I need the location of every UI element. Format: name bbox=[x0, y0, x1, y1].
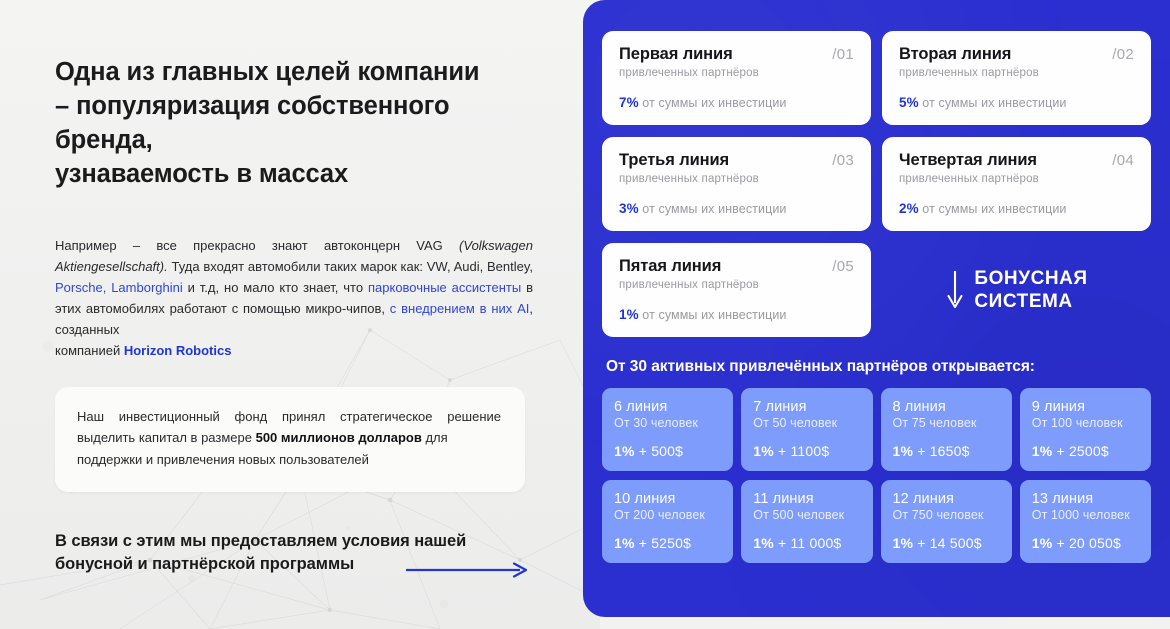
bonus-cell-requirement: От 30 человек bbox=[614, 416, 721, 430]
bonus-cell-percent: 1% bbox=[614, 443, 635, 459]
line-card-note: от суммы их инвестиции bbox=[919, 96, 1067, 110]
bonus-cell-amount: + 2500$ bbox=[1052, 443, 1109, 459]
line-card-number: /04 bbox=[1112, 152, 1134, 169]
referral-lines-grid: Первая линия /01 привлеченных партнёров … bbox=[602, 31, 1151, 337]
bonus-cell-amount: + 20 050$ bbox=[1052, 535, 1121, 551]
bonus-cell[interactable]: 6 линия От 30 человек 1% + 500$ bbox=[602, 388, 733, 471]
line-card-footer: 3% от суммы их инвестиции bbox=[619, 201, 854, 216]
line-card-footer: 1% от суммы их инвестиции bbox=[619, 307, 854, 322]
intro-seg-3: Туда входят автомобили таких марок как: … bbox=[168, 259, 533, 274]
bonus-system-callout: БОНУСНАЯ СИСТЕМА bbox=[882, 243, 1151, 337]
highlight-amount: 500 миллионов долларов bbox=[256, 430, 422, 445]
bonus-cell[interactable]: 9 линия От 100 человек 1% + 2500$ bbox=[1020, 388, 1151, 471]
bonus-cell-reward: 1% + 1100$ bbox=[753, 443, 860, 459]
intro-seg-5: и т.д, но мало кто знает, что bbox=[183, 280, 368, 295]
bonus-cell[interactable]: 8 линия От 75 человек 1% + 1650$ bbox=[881, 388, 1012, 471]
investment-highlight-text: Наш инвестиционный фонд принял стратегич… bbox=[77, 406, 501, 471]
line-card-note: от суммы их инвестиции bbox=[639, 202, 787, 216]
long-right-arrow-icon bbox=[406, 561, 532, 579]
line-card-percent: 2% bbox=[899, 201, 919, 216]
line-card-head: Вторая линия /02 bbox=[899, 45, 1134, 64]
line-card-percent: 5% bbox=[899, 95, 919, 110]
bonus-cell-percent: 1% bbox=[893, 535, 914, 551]
bonus-cell-requirement: От 750 человек bbox=[893, 508, 1000, 522]
line-card[interactable]: Вторая линия /02 привлеченных партнёров … bbox=[882, 31, 1151, 125]
bonus-cell-line: 6 линия bbox=[614, 399, 721, 415]
bonus-cell[interactable]: 12 линия От 750 человек 1% + 14 500$ bbox=[881, 480, 1012, 563]
investment-highlight-card: Наш инвестиционный фонд принял стратегич… bbox=[55, 387, 525, 492]
bonus-cell-amount: + 500$ bbox=[635, 443, 684, 459]
bonus-cell-amount: + 5250$ bbox=[635, 535, 692, 551]
line-card-title: Третья линия bbox=[619, 151, 729, 170]
intro-seg-1: Например – все прекрасно знают автоконце… bbox=[55, 238, 459, 253]
line-card-head: Пятая линия /05 bbox=[619, 257, 854, 276]
bonus-cell-line: 9 линия bbox=[1032, 399, 1139, 415]
bonus-cell-line: 12 линия bbox=[893, 491, 1000, 507]
line-card[interactable]: Первая линия /01 привлеченных партнёров … bbox=[602, 31, 871, 125]
bonus-cell-reward: 1% + 2500$ bbox=[1032, 443, 1139, 459]
partner-program-panel: Первая линия /01 привлеченных партнёров … bbox=[583, 0, 1170, 617]
line-card-number: /03 bbox=[832, 152, 854, 169]
bonus-cell-percent: 1% bbox=[893, 443, 914, 459]
down-arrow-icon bbox=[945, 269, 965, 311]
intro-seg-brands-blue: Porsche, Lamborghini bbox=[55, 280, 183, 295]
bonus-cell-line: 11 линия bbox=[753, 491, 860, 507]
bonus-levels-grid: 6 линия От 30 человек 1% + 500$ 7 линия … bbox=[602, 388, 1151, 563]
bonus-cell-reward: 1% + 14 500$ bbox=[893, 535, 1000, 551]
bonus-cell[interactable]: 13 линия От 1000 человек 1% + 20 050$ bbox=[1020, 480, 1151, 563]
line-card-footer: 2% от суммы их инвестиции bbox=[899, 201, 1134, 216]
line-card-footer: 7% от суммы их инвестиции bbox=[619, 95, 854, 110]
bonus-cell-amount: + 11 000$ bbox=[774, 535, 842, 551]
highlight-seg-4: поддержки и привлечения новых пользовате… bbox=[77, 449, 501, 471]
bonus-cell-requirement: От 200 человек bbox=[614, 508, 721, 522]
highlight-seg-3: для bbox=[422, 430, 448, 445]
bonus-cell-requirement: От 500 человек bbox=[753, 508, 860, 522]
page-title: Одна из главных целей компании – популяр… bbox=[55, 56, 535, 192]
line-card-note: от суммы их инвестиции bbox=[639, 96, 787, 110]
bonus-cell-reward: 1% + 20 050$ bbox=[1032, 535, 1139, 551]
bonus-cell-percent: 1% bbox=[1032, 535, 1053, 551]
line-card-number: /02 bbox=[1112, 46, 1134, 63]
left-content-column: Одна из главных целей компании – популяр… bbox=[0, 0, 583, 629]
bonus-cell-percent: 1% bbox=[753, 535, 774, 551]
line-card[interactable]: Четвертая линия /04 привлеченных партнёр… bbox=[882, 137, 1151, 231]
bonus-cell-reward: 1% + 11 000$ bbox=[753, 535, 860, 551]
bonus-cell-requirement: От 1000 человек bbox=[1032, 508, 1139, 522]
line-card-note: от суммы их инвестиции bbox=[919, 202, 1067, 216]
bonus-cell-percent: 1% bbox=[753, 443, 774, 459]
intro-paragraph: Например – все прекрасно знают автоконце… bbox=[55, 235, 533, 361]
line-card[interactable]: Пятая линия /05 привлеченных партнёров 1… bbox=[602, 243, 871, 337]
bonus-cell-amount: + 14 500$ bbox=[913, 535, 982, 551]
line-card-footer: 5% от суммы их инвестиции bbox=[899, 95, 1134, 110]
bonus-cell-percent: 1% bbox=[1032, 443, 1053, 459]
line-card-percent: 7% bbox=[619, 95, 639, 110]
intro-seg-10: компанией bbox=[55, 343, 124, 358]
line-card-subtitle: привлеченных партнёров bbox=[619, 279, 854, 291]
intro-seg-assistants-blue: парковочные ассистенты bbox=[368, 280, 521, 295]
intro-last-line: компанией Horizon Robotics bbox=[55, 340, 533, 361]
bonus-cell[interactable]: 11 линия От 500 человек 1% + 11 000$ bbox=[741, 480, 872, 563]
closing-block: В связи с этим мы предоставляем условия … bbox=[55, 530, 533, 577]
bonus-cell-amount: + 1100$ bbox=[774, 443, 829, 459]
line-card-head: Четвертая линия /04 bbox=[899, 151, 1134, 170]
bonus-cell[interactable]: 10 линия От 200 человек 1% + 5250$ bbox=[602, 480, 733, 563]
line-card-percent: 1% bbox=[619, 307, 639, 322]
bonus-cell[interactable]: 7 линия От 50 человек 1% + 1100$ bbox=[741, 388, 872, 471]
bonus-system-label: БОНУСНАЯ СИСТЕМА bbox=[974, 267, 1087, 313]
bonus-cell-percent: 1% bbox=[614, 535, 635, 551]
bonus-cell-amount: + 1650$ bbox=[913, 443, 970, 459]
bonus-cell-requirement: От 75 человек bbox=[893, 416, 1000, 430]
line-card-note: от суммы их инвестиции bbox=[639, 308, 787, 322]
bonus-cell-line: 8 линия bbox=[893, 399, 1000, 415]
bonus-cell-line: 7 линия bbox=[753, 399, 860, 415]
slide-root: Одна из главных целей компании – популяр… bbox=[0, 0, 1170, 629]
line-card-title: Первая линия bbox=[619, 45, 733, 64]
line-card-subtitle: привлеченных партнёров bbox=[619, 173, 854, 185]
bonus-cell-requirement: От 100 человек bbox=[1032, 416, 1139, 430]
bonus-cell-reward: 1% + 500$ bbox=[614, 443, 721, 459]
line-card-title: Пятая линия bbox=[619, 257, 721, 276]
bonus-cell-line: 10 линия bbox=[614, 491, 721, 507]
intro-seg-ai-blue: с внедрением в них AI bbox=[385, 301, 529, 316]
line-card-head: Первая линия /01 bbox=[619, 45, 854, 64]
bonus-cell-reward: 1% + 1650$ bbox=[893, 443, 1000, 459]
bonus-cell-reward: 1% + 5250$ bbox=[614, 535, 721, 551]
line-card-number: /01 bbox=[832, 46, 854, 63]
line-card-subtitle: привлеченных партнёров bbox=[899, 67, 1134, 79]
line-card-subtitle: привлеченных партнёров bbox=[899, 173, 1134, 185]
line-card-number: /05 bbox=[832, 258, 854, 275]
line-card-title: Четвертая линия bbox=[899, 151, 1037, 170]
intro-seg-horizon-robotics: Horizon Robotics bbox=[124, 343, 232, 358]
line-card-subtitle: привлеченных партнёров bbox=[619, 67, 854, 79]
bonus-cell-line: 13 линия bbox=[1032, 491, 1139, 507]
line-card[interactable]: Третья линия /03 привлеченных партнёров … bbox=[602, 137, 871, 231]
line-card-percent: 3% bbox=[619, 201, 639, 216]
line-card-title: Вторая линия bbox=[899, 45, 1011, 64]
line-card-head: Третья линия /03 bbox=[619, 151, 854, 170]
bonus-grid-heading: От 30 активных привлечённых партнёров от… bbox=[606, 358, 1151, 376]
bonus-cell-requirement: От 50 человек bbox=[753, 416, 860, 430]
